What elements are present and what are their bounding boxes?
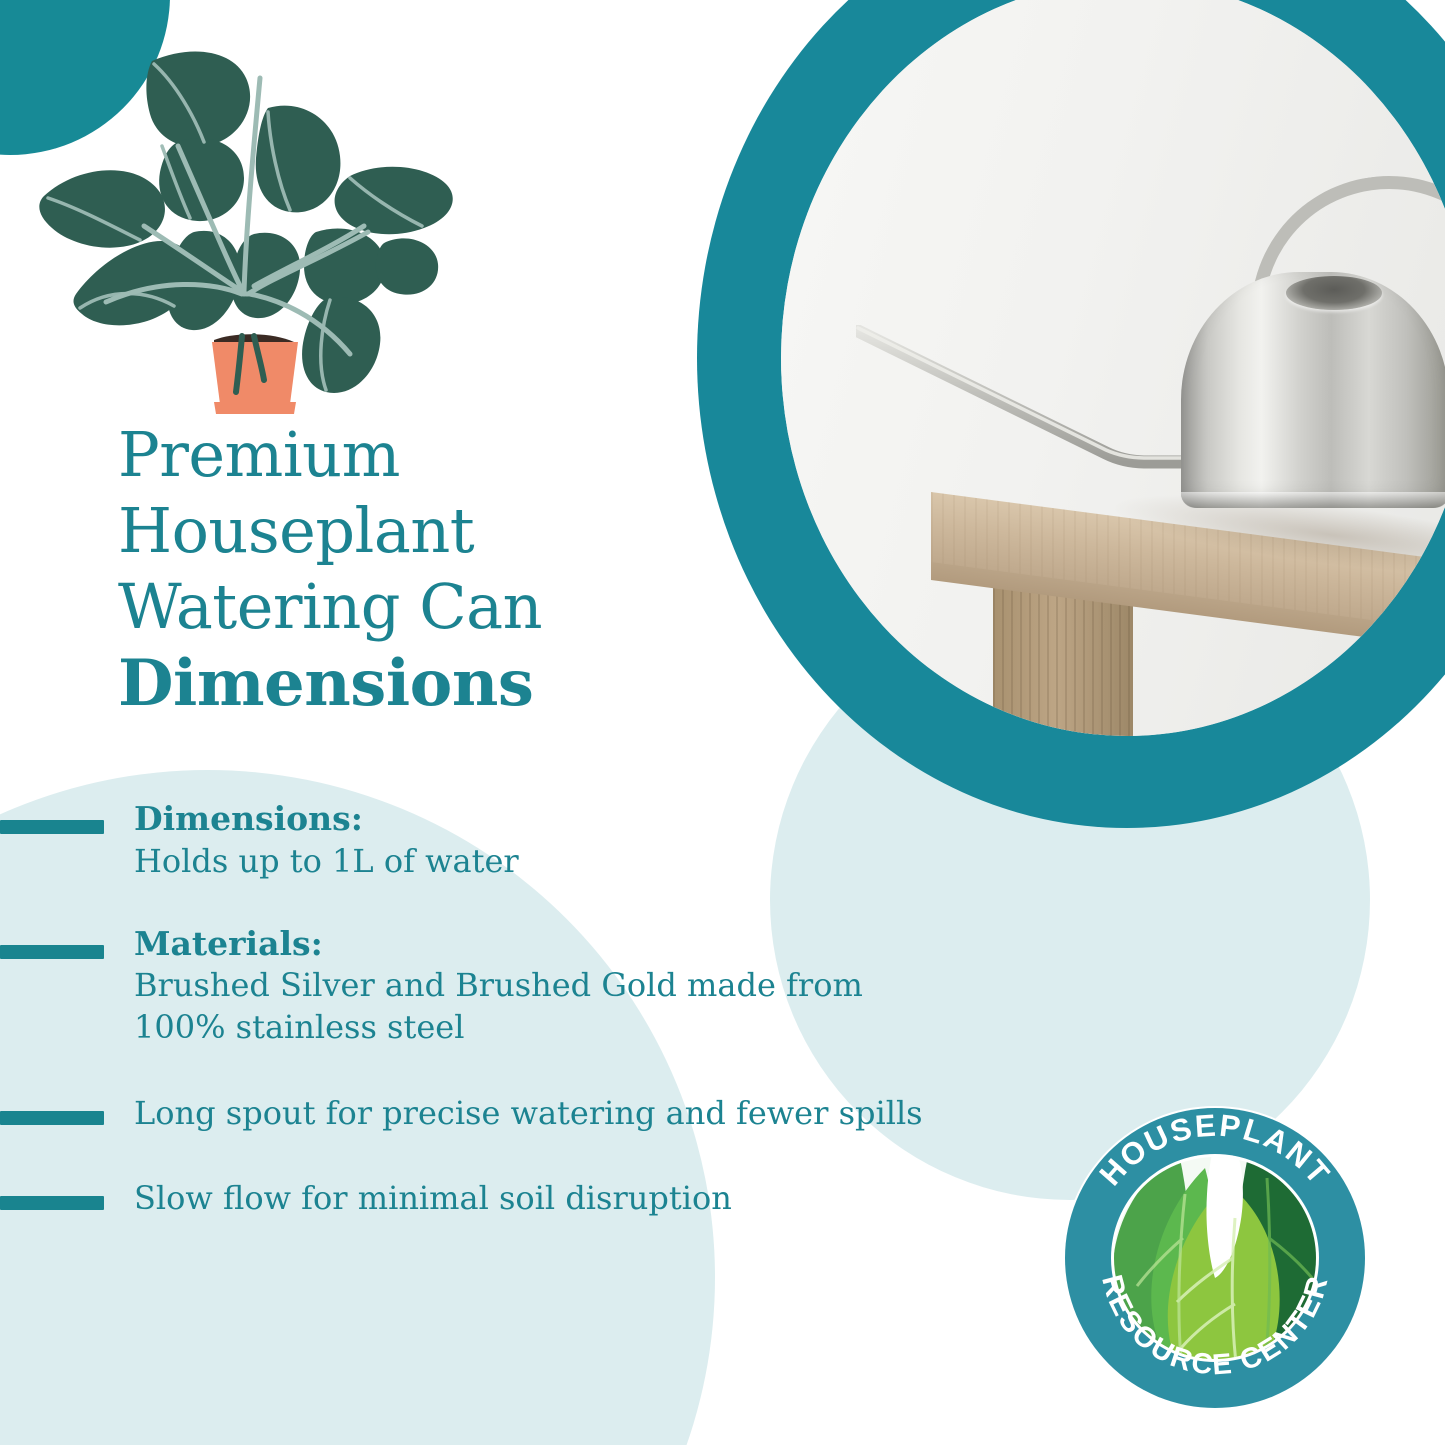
title-line-1: Premium: [118, 424, 738, 486]
infographic-canvas: Premium Houseplant Watering Can Dimensio…: [0, 0, 1445, 1445]
watering-can-opening: [1286, 276, 1382, 310]
title-line-4: Dimensions: [118, 652, 738, 716]
watering-can-spout: [856, 325, 1196, 485]
dash-marker-icon: [0, 1111, 104, 1125]
title-line-3: Watering Can: [118, 576, 738, 638]
feature-body: Slow flow for minimal soil disruption: [134, 1178, 960, 1220]
list-item: Materials: Brushed Silver and Brushed Go…: [0, 925, 960, 1049]
product-photo-ring: [697, 0, 1445, 828]
feature-body: Long spout for precise watering and fewe…: [134, 1093, 960, 1135]
dash-marker-icon: [0, 945, 104, 959]
list-item: Long spout for precise watering and fewe…: [0, 1091, 960, 1135]
feature-heading: Materials:: [134, 925, 960, 964]
feature-body: Brushed Silver and Brushed Gold made fro…: [134, 965, 960, 1048]
feature-heading: Dimensions:: [134, 800, 960, 839]
list-item: Slow flow for minimal soil disruption: [0, 1176, 960, 1220]
list-item: Dimensions: Holds up to 1L of water: [0, 800, 960, 883]
dash-marker-icon: [0, 820, 104, 834]
page-title: Premium Houseplant Watering Can Dimensio…: [118, 424, 738, 716]
feature-body: Holds up to 1L of water: [134, 841, 960, 883]
dash-marker-icon: [0, 1196, 104, 1210]
feature-list: Dimensions: Holds up to 1L of water Mate…: [0, 800, 960, 1262]
pothos-plant-icon: [28, 36, 458, 416]
houseplant-resource-center-logo: HOUSEPLANT RESOURCE CENTER: [1055, 1098, 1375, 1418]
title-line-2: Houseplant: [118, 500, 738, 562]
watering-can-photo: [781, 0, 1445, 736]
